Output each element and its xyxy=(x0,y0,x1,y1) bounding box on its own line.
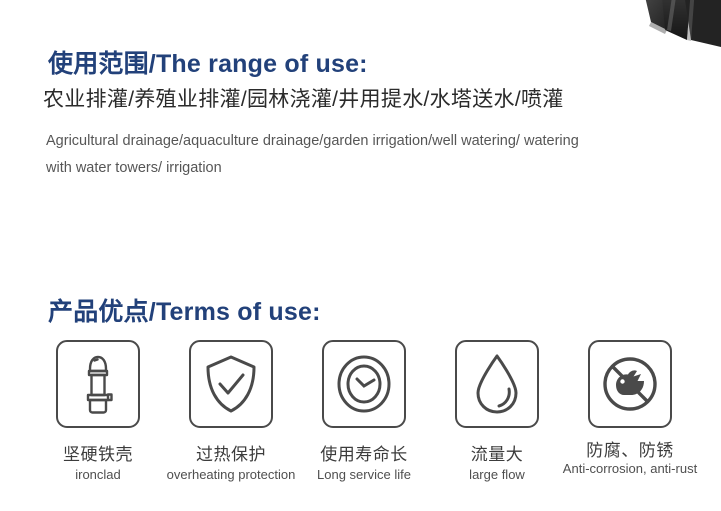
icon-box xyxy=(588,340,672,428)
feature-label: 坚硬铁壳 ironclad xyxy=(63,444,133,484)
feature-label-en: ironclad xyxy=(63,466,133,484)
feature-label-cn: 流量大 xyxy=(469,444,525,465)
feature-label-en: large flow xyxy=(469,466,525,484)
shield-check-icon xyxy=(203,353,259,415)
icon-box xyxy=(322,340,406,428)
feature-label: 过热保护 overheating protection xyxy=(167,444,296,484)
terms-of-use-heading: 产品优点/Terms of use: xyxy=(48,292,321,328)
feature-label: 防腐、防锈 Anti-corrosion, anti-rust xyxy=(563,440,697,478)
feature-label: 使用寿命长 Long service life xyxy=(317,444,411,484)
icon-box xyxy=(189,340,273,428)
feature-list: 坚硬铁壳 ironclad 过热保护 overheating protectio… xyxy=(56,340,676,500)
feature-label-cn: 防腐、防锈 xyxy=(563,440,697,461)
feature-label: 流量大 large flow xyxy=(469,444,525,484)
anti-corrosion-icon xyxy=(600,354,660,414)
feature-label-cn: 使用寿命长 xyxy=(317,444,411,465)
feature-item-anti-corrosion: 防腐、防锈 Anti-corrosion, anti-rust xyxy=(588,340,672,428)
water-drop-icon xyxy=(471,352,523,416)
pump-impeller-photo-crop xyxy=(621,0,721,47)
feature-label-cn: 过热保护 xyxy=(167,444,296,465)
feature-label-en: Anti-corrosion, anti-rust xyxy=(563,460,697,478)
feature-item-long-service-life: 使用寿命长 Long service life xyxy=(322,340,406,428)
submersible-pump-icon xyxy=(75,353,121,415)
feature-label-cn: 坚硬铁壳 xyxy=(63,444,133,465)
range-english-text: Agricultural drainage/aquaculture draina… xyxy=(46,128,606,182)
feature-item-large-flow: 流量大 large flow xyxy=(455,340,539,428)
icon-box xyxy=(56,340,140,428)
range-of-use-heading: 使用范围/The range of use: xyxy=(48,44,368,80)
range-chinese-text: 农业排灌/养殖业排灌/园林浇灌/井用提水/水塔送水/喷灌 xyxy=(43,83,564,113)
feature-label-en: overheating protection xyxy=(167,466,296,484)
clock-icon xyxy=(335,353,393,415)
feature-item-ironclad: 坚硬铁壳 ironclad xyxy=(56,340,140,428)
feature-label-en: Long service life xyxy=(317,466,411,484)
feature-item-overheating-protection: 过热保护 overheating protection xyxy=(189,340,273,428)
icon-box xyxy=(455,340,539,428)
